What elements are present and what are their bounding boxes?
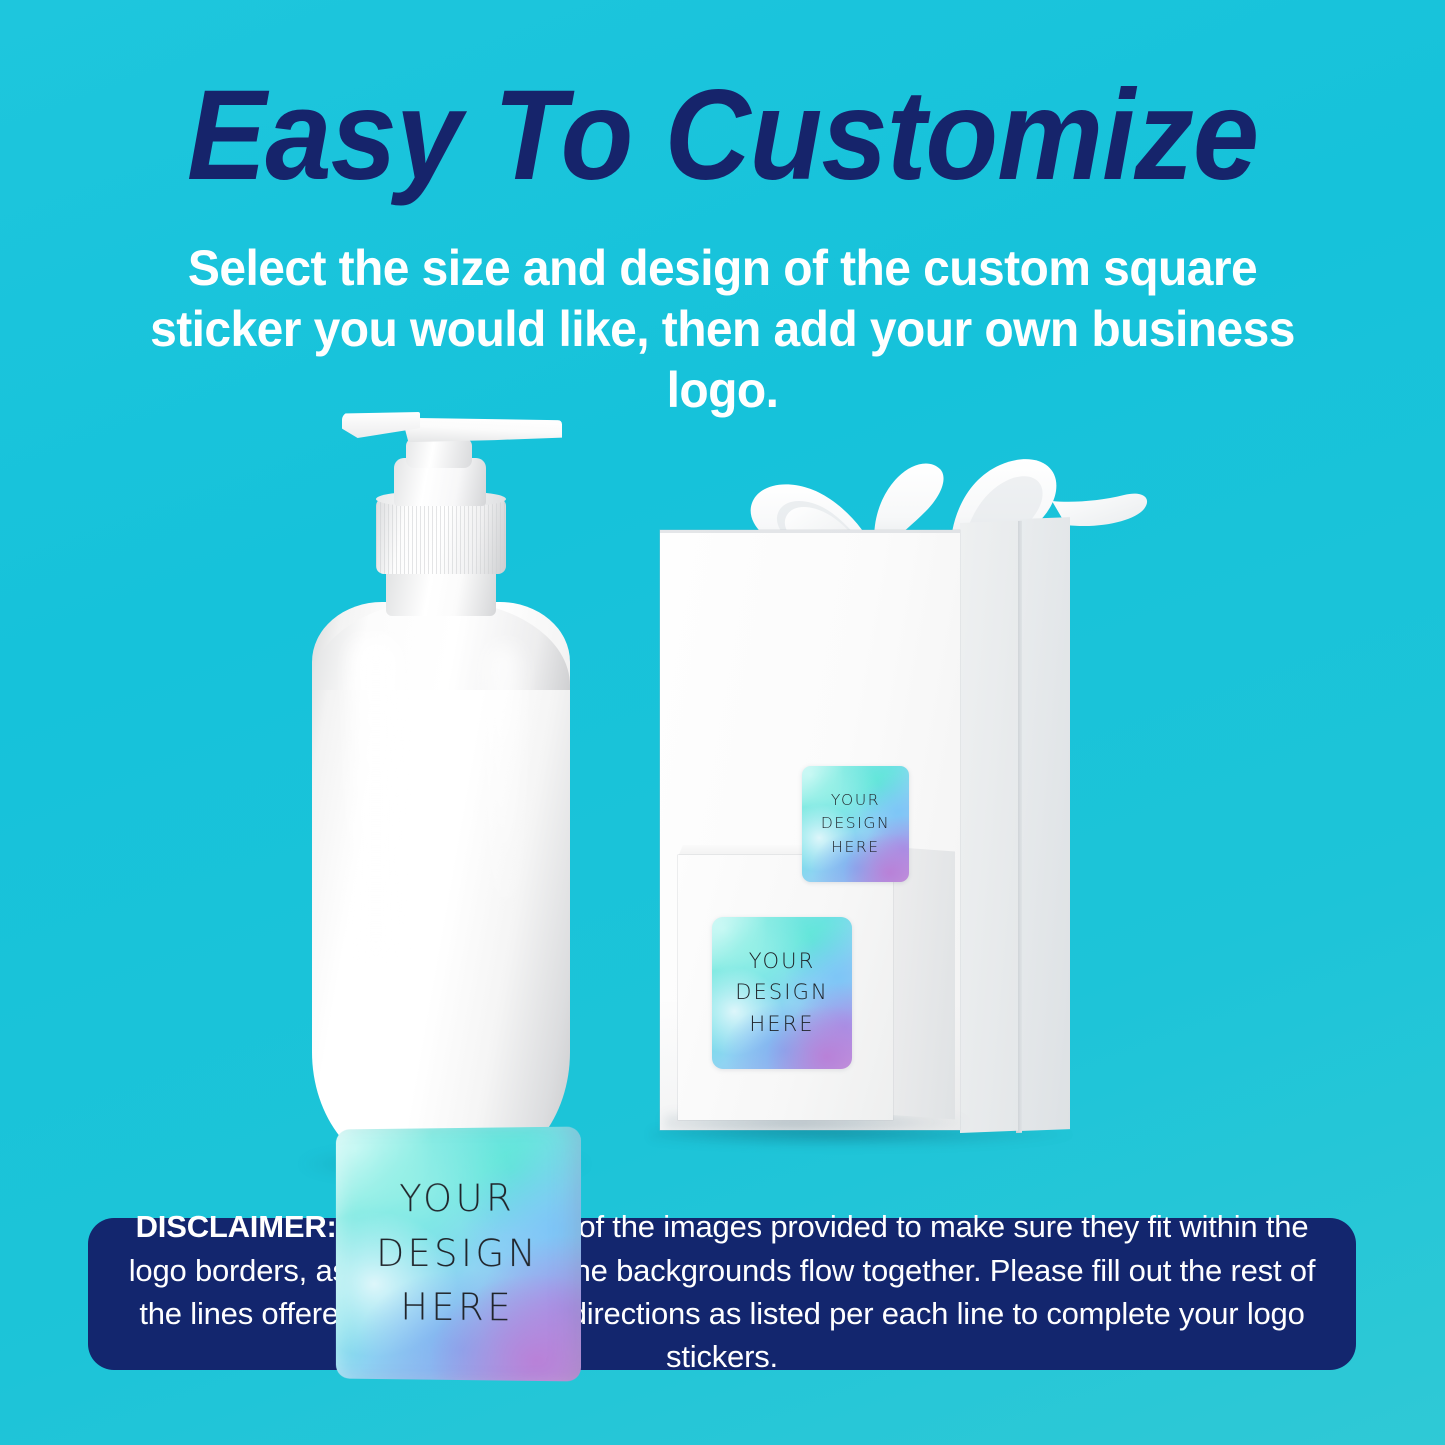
sticker-gift-line-2: DESIGN [821,812,890,836]
bottle-highlight-left [350,635,402,965]
gift-box-lid-line [660,530,960,533]
product-scene: YOUR DESIGN HERE YOUR DESIGN HERE [0,380,1445,1220]
gift-box-side-back [1020,517,1070,1131]
sticker-bottle-line-3: HERE [400,1281,514,1336]
sticker-small-box[interactable]: YOUR DESIGN HERE [712,917,852,1069]
page-title: Easy To Customize [51,72,1395,200]
bottle-pump-stem-upper [406,438,472,468]
sticker-small-line-3: HERE [749,1009,814,1041]
sticker-small-line-1: YOUR [749,946,816,978]
small-box: YOUR DESIGN HERE [678,855,978,1155]
sticker-bottle-line-1: YOUR [399,1171,515,1226]
disclaimer-banner: DISCLAIMER: We will adjust all of the im… [88,1218,1356,1370]
bottle-pump-collar [376,498,506,574]
small-box-side [893,847,955,1120]
bottle-highlight-right [486,645,520,915]
disclaimer-label: DISCLAIMER: [136,1209,337,1244]
sticker-gift-box[interactable]: YOUR DESIGN HERE [802,766,909,882]
sticker-gift-line-1: YOUR [831,789,880,813]
sticker-bottle-label[interactable]: YOUR DESIGN HERE [336,1126,581,1381]
sticker-bottle-line-2: DESIGN [376,1226,539,1281]
sticker-small-box-text: YOUR DESIGN HERE [712,917,852,1069]
sticker-bottle-label-text: YOUR DESIGN HERE [336,1126,581,1381]
promo-banner: Easy To Customize Select the size and de… [0,0,1445,1445]
sticker-gift-line-3: HERE [831,836,879,860]
sticker-small-line-2: DESIGN [735,977,829,1009]
disclaimer-text: DISCLAIMER: We will adjust all of the im… [122,1205,1322,1379]
sticker-gift-box-text: YOUR DESIGN HERE [802,766,909,882]
pump-bottle: YOUR DESIGN HERE [290,410,620,1210]
